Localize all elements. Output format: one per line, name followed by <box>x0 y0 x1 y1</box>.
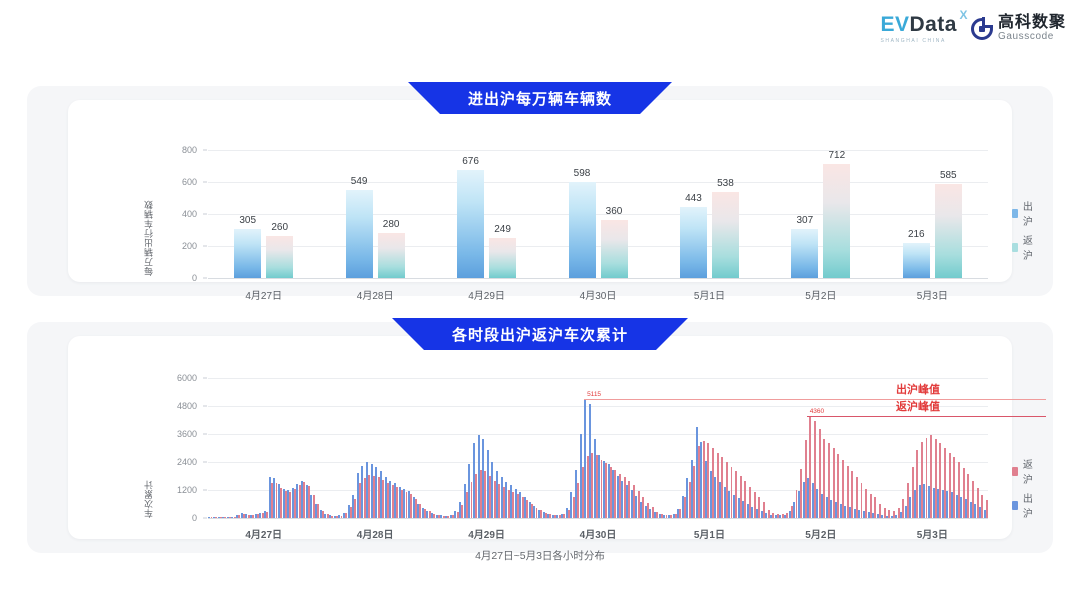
daily-bar-out[interactable]: 676 <box>457 170 484 278</box>
daily-bar-return[interactable]: 585 <box>935 184 962 278</box>
hourly-chart-y-tick: 3600 <box>162 429 202 439</box>
daily-legend-label: 返沪 <box>1023 232 1036 262</box>
evdata-wordmark: EVDataX <box>880 14 957 35</box>
evdata-data-text: Data <box>909 13 957 36</box>
daily-bar-out[interactable]: 216 <box>903 243 930 278</box>
daily-bar-value-label: 712 <box>829 150 846 161</box>
evdata-logo: EVDataX SHANGHAI CHINA <box>880 14 957 44</box>
hourly-chart-x-tick: 5月3日 <box>917 526 948 541</box>
daily-bar-value-label: 676 <box>462 156 479 167</box>
hourly-chart-y-tickmark <box>203 434 207 435</box>
hourly-chart-gridline <box>208 378 988 379</box>
daily-chart-gridline <box>208 214 988 215</box>
dashboard-page: EVDataX SHANGHAI CHINA 高科数聚 Gausscode 每万… <box>0 0 1080 608</box>
daily-chart-x-tick: 4月27日 <box>245 287 282 302</box>
hourly-chart-y-tick: 1200 <box>162 485 202 495</box>
hourly-chart-y-axis-label: 车次累计 <box>142 378 155 518</box>
top-chart-title: 进出沪每万辆车辆数 <box>468 88 612 109</box>
daily-chart-x-tick: 4月28日 <box>357 287 394 302</box>
hourly-bar-chart-legend: 返沪出沪 <box>1012 456 1036 520</box>
daily-bar-return[interactable]: 360 <box>601 220 628 278</box>
header-logos: EVDataX SHANGHAI CHINA 高科数聚 Gausscode <box>880 14 1066 44</box>
bottom-chart-title-banner: 各时段出沪返沪车次累计 <box>392 318 688 350</box>
daily-chart-gridline <box>208 246 988 247</box>
daily-bar-return[interactable]: 249 <box>489 238 516 278</box>
legend-swatch-icon <box>1012 209 1018 218</box>
daily-chart-y-tick: 800 <box>162 145 202 155</box>
daily-bar-value-label: 443 <box>685 193 702 204</box>
hourly-chart-x-tick: 4月28日 <box>357 526 394 541</box>
daily-bar-return[interactable]: 280 <box>378 233 405 278</box>
hourly-chart-x-tick: 5月2日 <box>805 526 836 541</box>
bottom-chart-title: 各时段出沪返沪车次累计 <box>452 324 628 345</box>
daily-bar-value-label: 216 <box>908 229 925 240</box>
hourly-legend-label: 出沪 <box>1023 490 1036 520</box>
daily-chart-x-tick: 5月3日 <box>917 287 948 302</box>
daily-legend-label: 出沪 <box>1023 198 1036 228</box>
hourly-chart-y-tick: 0 <box>162 513 202 523</box>
hourly-chart-x-tick: 4月27日 <box>245 526 282 541</box>
daily-bar-return[interactable]: 538 <box>712 192 739 278</box>
hourly-legend-item-返沪[interactable]: 返沪 <box>1012 456 1036 486</box>
peak-reference-line <box>584 399 1046 400</box>
daily-bar-value-label: 585 <box>940 170 957 181</box>
hourly-chart-y-tickmark <box>203 490 207 491</box>
hourly-chart-y-tickmark <box>203 518 207 519</box>
peak-name-label: 返沪峰值 <box>896 398 940 414</box>
daily-bar-value-label: 280 <box>383 219 400 230</box>
bottom-chart-panel: 车次累计0120024003600480060004月27日4月28日4月29日… <box>27 322 1053 553</box>
daily-chart-gridline <box>208 182 988 183</box>
daily-bar-chart-legend: 出沪返沪 <box>1012 198 1036 262</box>
gausscode-mark-icon <box>971 18 993 40</box>
hourly-bar-return[interactable] <box>986 500 988 518</box>
daily-chart-axis-line <box>208 278 988 279</box>
hourly-chart-y-tickmark <box>203 378 207 379</box>
hourly-chart-x-tick: 4月30日 <box>580 526 617 541</box>
daily-chart-y-tickmark <box>203 214 207 215</box>
daily-bar-value-label: 305 <box>239 215 256 226</box>
daily-bar-value-label: 260 <box>271 222 288 233</box>
hourly-bar-chart-plot: 车次累计0120024003600480060004月27日4月28日4月29日… <box>208 378 988 518</box>
peak-value-label: 5115 <box>587 391 601 398</box>
evdata-ev-text: EV <box>880 13 909 36</box>
hourly-chart-x-caption: 4月27日~5月3日各小时分布 <box>68 548 1012 563</box>
daily-chart-y-tickmark <box>203 278 207 279</box>
evdata-superscript-x: X <box>959 9 968 21</box>
legend-swatch-icon <box>1012 243 1018 252</box>
daily-bar-value-label: 360 <box>606 206 623 217</box>
daily-legend-item-返沪[interactable]: 返沪 <box>1012 232 1036 262</box>
daily-chart-y-tick: 400 <box>162 209 202 219</box>
hourly-chart-y-tickmark <box>203 406 207 407</box>
daily-chart-y-tickmark <box>203 182 207 183</box>
daily-bar-value-label: 249 <box>494 224 511 235</box>
daily-chart-y-tick: 600 <box>162 177 202 187</box>
gausscode-chinese-name: 高科数聚 <box>998 15 1066 32</box>
top-chart-title-banner: 进出沪每万辆车辆数 <box>408 82 672 114</box>
hourly-legend-label: 返沪 <box>1023 456 1036 486</box>
hourly-chart-gridline <box>208 434 988 435</box>
daily-chart-gridline <box>208 150 988 151</box>
daily-chart-y-tick: 0 <box>162 273 202 283</box>
daily-chart-x-tick: 5月2日 <box>805 287 836 302</box>
evdata-subtitle: SHANGHAI CHINA <box>880 38 945 44</box>
daily-bar-out[interactable]: 443 <box>680 207 707 278</box>
legend-swatch-icon <box>1012 467 1018 476</box>
daily-chart-y-tickmark <box>203 150 207 151</box>
daily-chart-x-tick: 4月29日 <box>468 287 505 302</box>
gausscode-english-name: Gausscode <box>998 32 1066 43</box>
daily-chart-x-tick: 5月1日 <box>694 287 725 302</box>
daily-bar-value-label: 307 <box>797 215 814 226</box>
peak-value-label: 4360 <box>810 408 824 415</box>
daily-bar-chart-plot: 每万辆出行车辆数02004006008003052604月27日5492804月… <box>208 150 988 278</box>
legend-swatch-icon <box>1012 501 1018 510</box>
hourly-legend-item-出沪[interactable]: 出沪 <box>1012 490 1036 520</box>
daily-chart-x-tick: 4月30日 <box>580 287 617 302</box>
hourly-chart-y-tick: 4800 <box>162 401 202 411</box>
gausscode-logo: 高科数聚 Gausscode <box>971 15 1066 42</box>
hourly-chart-y-tickmark <box>203 462 207 463</box>
hourly-chart-gridline <box>208 406 988 407</box>
daily-chart-y-axis-label: 每万辆出行车辆数 <box>142 158 155 276</box>
daily-chart-y-tickmark <box>203 246 207 247</box>
hourly-chart-y-tick: 2400 <box>162 457 202 467</box>
hourly-chart-x-tick: 5月1日 <box>694 526 725 541</box>
daily-legend-item-出沪[interactable]: 出沪 <box>1012 198 1036 228</box>
daily-chart-y-tick: 200 <box>162 241 202 251</box>
top-chart-panel: 每万辆出行车辆数02004006008003052604月27日5492804月… <box>27 86 1053 296</box>
hourly-chart-axis-line <box>208 518 988 519</box>
daily-bar-out[interactable]: 598 <box>569 182 596 278</box>
bottom-chart-card: 车次累计0120024003600480060004月27日4月28日4月29日… <box>68 336 1012 539</box>
daily-bar-return[interactable]: 712 <box>823 164 850 278</box>
hourly-chart-y-tick: 6000 <box>162 373 202 383</box>
daily-bar-value-label: 538 <box>717 178 734 189</box>
daily-bar-out[interactable]: 305 <box>234 229 261 278</box>
hourly-chart-x-tick: 4月29日 <box>468 526 505 541</box>
top-chart-card: 每万辆出行车辆数02004006008003052604月27日5492804月… <box>68 100 1012 282</box>
daily-bar-value-label: 549 <box>351 176 368 187</box>
daily-bar-out[interactable]: 549 <box>346 190 373 278</box>
daily-bar-out[interactable]: 307 <box>791 229 818 278</box>
peak-name-label: 出沪峰值 <box>896 381 940 397</box>
daily-bar-return[interactable]: 260 <box>266 236 293 278</box>
peak-reference-line <box>807 416 1046 417</box>
daily-bar-value-label: 598 <box>574 168 591 179</box>
